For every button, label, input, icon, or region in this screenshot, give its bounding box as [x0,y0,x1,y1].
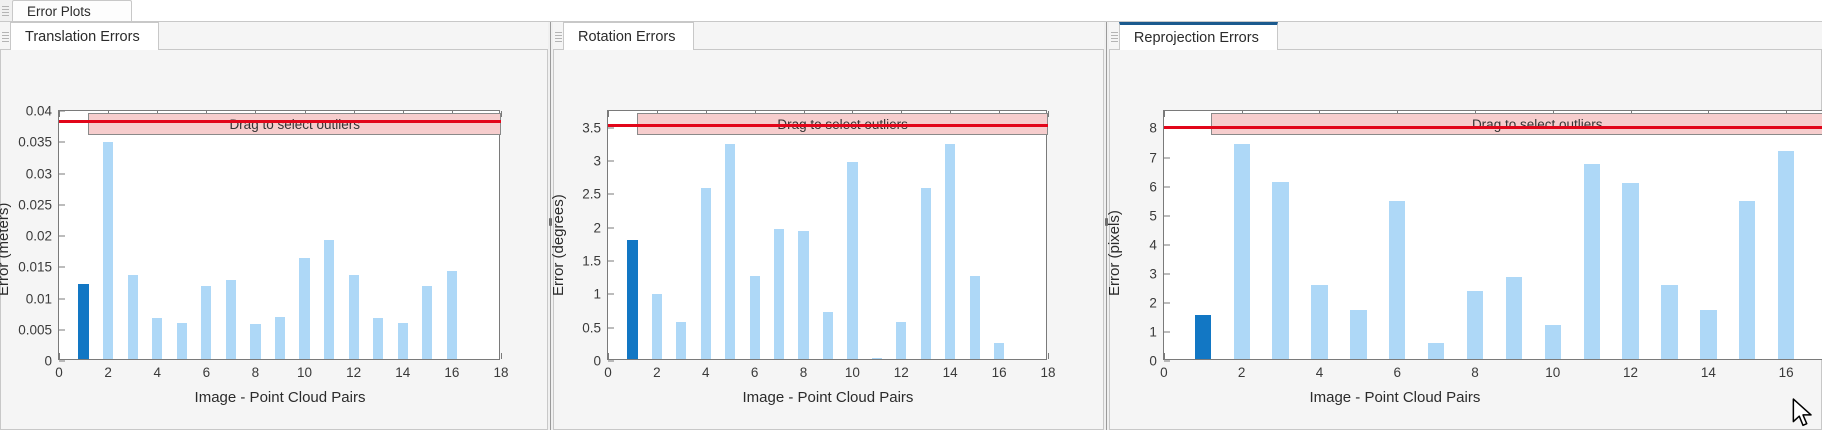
y-tick-mark [608,361,614,362]
bar[interactable] [1739,201,1755,359]
chart-translation-errors[interactable]: 00.0050.010.0150.020.0250.030.0350.04024… [58,110,500,360]
x-axis-label: Image - Point Cloud Pairs [743,389,914,406]
y-tick-mark [1164,215,1170,216]
y-tick-mark [59,361,65,362]
bar[interactable] [1389,201,1405,359]
x-tick-mark [1048,353,1049,359]
y-tick-mark [608,227,614,228]
y-tick-mark [59,298,65,299]
bar[interactable] [725,144,735,359]
x-tick-label: 8 [252,365,260,380]
y-tick-label: 0 [44,354,52,369]
bar[interactable] [324,240,334,359]
y-tick-label: 2 [1149,295,1157,310]
x-tick-label: 10 [845,365,860,380]
plot-columns: Translation Errors 00.0050.010.0150.020.… [0,22,1822,430]
y-tick-mark [1164,244,1170,245]
bar[interactable] [994,343,1004,359]
y-tick-label: 2 [593,220,601,235]
bar[interactable] [774,229,784,359]
outlier-drag-band[interactable]: Drag to select outliers [1211,113,1822,135]
y-tick-label: 3.5 [582,120,601,135]
x-tick-label: 6 [751,365,759,380]
x-tick-label: 6 [203,365,211,380]
outlier-threshold-line[interactable] [1164,126,1822,129]
y-tick-label: 0.035 [18,135,52,150]
x-tick-label: 6 [1393,365,1401,380]
y-tick-label: 0.5 [582,320,601,335]
tab-reprojection-errors[interactable]: Reprojection Errors [1119,22,1278,50]
bar[interactable] [349,275,359,359]
y-axis-label: Error (degrees) [550,194,567,296]
bar[interactable] [103,142,113,360]
x-tick-mark [1164,353,1165,359]
y-tick-mark [608,161,614,162]
y-tick-label: 4 [1149,237,1157,252]
y-tick-mark [1164,186,1170,187]
panel-2-tabrow: Rotation Errors [553,22,1104,50]
panel-1-drag-grip-icon[interactable] [2,30,9,44]
y-tick-label: 3 [593,154,601,169]
y-tick-mark [1164,361,1170,362]
panel-3-tabrow: Reprojection Errors [1109,22,1822,50]
bar[interactable] [1272,182,1288,359]
bar[interactable] [627,240,637,359]
y-tick-mark [608,294,614,295]
y-tick-mark [1164,157,1170,158]
tab-rotation-errors-label: Rotation Errors [578,29,676,45]
y-tick-mark [608,194,614,195]
y-tick-label: 3 [1149,266,1157,281]
panel-reprojection-errors: Reprojection Errors 01234567802468101214… [1109,22,1822,430]
panel-2-plot-body: 00.511.522.533.5024681012141618Error (de… [553,50,1104,430]
y-tick-label: 0.005 [18,322,52,337]
bar[interactable] [896,322,906,359]
y-tick-label: 0 [593,354,601,369]
chart-rotation-errors[interactable]: 00.511.522.533.5024681012141618Error (de… [607,110,1047,360]
x-tick-label: 8 [1471,365,1479,380]
x-tick-label: 8 [800,365,808,380]
x-tick-mark-top [59,111,60,117]
bar[interactable] [447,271,457,359]
bar[interactable] [78,284,88,359]
y-tick-mark [59,267,65,268]
y-tick-label: 2.5 [582,187,601,202]
y-tick-mark [59,142,65,143]
x-tick-label: 4 [153,365,161,380]
x-tick-label: 4 [702,365,710,380]
x-axis-label: Image - Point Cloud Pairs [195,389,366,406]
x-axis-label: Image - Point Cloud Pairs [1309,389,1480,406]
bar[interactable] [872,358,882,359]
y-tick-label: 0.015 [18,260,52,275]
x-tick-label: 16 [1779,365,1794,380]
y-tick-mark [59,204,65,205]
y-tick-label: 8 [1149,121,1157,136]
bar[interactable] [921,188,931,359]
y-tick-label: 0.01 [26,291,52,306]
y-tick-mark [1164,331,1170,332]
bar[interactable] [177,323,187,359]
y-tick-mark [59,173,65,174]
x-tick-mark-top [1164,111,1165,117]
x-tick-mark [608,353,609,359]
bar[interactable] [1545,325,1561,359]
bar[interactable] [701,188,711,359]
bar[interactable] [373,318,383,359]
chart-reprojection-errors[interactable]: 012345678024681012141618Error (pixels)Im… [1163,110,1822,360]
bar[interactable] [1778,151,1794,359]
panel-3-plot-body: 012345678024681012141618Error (pixels)Im… [1109,50,1822,430]
x-tick-label: 14 [1701,365,1716,380]
y-tick-label: 1 [593,287,601,302]
tab-error-plots[interactable]: Error Plots [12,0,132,22]
x-tick-label: 2 [653,365,661,380]
tab-rotation-errors[interactable]: Rotation Errors [563,22,695,50]
y-tick-mark [59,236,65,237]
panel-1-plot-body: 00.0050.010.0150.020.0250.030.0350.04024… [0,50,548,430]
tab-translation-errors-label: Translation Errors [25,29,140,45]
bar[interactable] [201,286,211,359]
y-axis-label: Error (pixels) [1106,210,1123,296]
bar[interactable] [945,144,955,359]
bar[interactable] [750,276,760,359]
x-tick-mark [501,353,502,359]
bar[interactable] [1622,183,1638,359]
y-tick-mark [608,327,614,328]
y-tick-label: 7 [1149,150,1157,165]
y-tick-label: 0.03 [26,166,52,181]
bar[interactable] [1584,164,1600,359]
bar[interactable] [398,323,408,359]
bar[interactable] [422,286,432,359]
panel-3-drag-grip-icon[interactable] [1111,30,1118,44]
x-tick-label: 0 [1160,365,1168,380]
bar[interactable] [970,276,980,359]
y-tick-mark [1164,273,1170,274]
bar[interactable] [798,231,808,359]
x-tick-label: 0 [604,365,612,380]
tab-reprojection-errors-label: Reprojection Errors [1134,30,1259,46]
panel-translation-errors: Translation Errors 00.0050.010.0150.020.… [0,22,548,430]
bar[interactable] [226,280,236,359]
x-tick-label: 16 [444,365,459,380]
y-tick-label: 0.04 [26,104,52,119]
bar[interactable] [1506,277,1522,359]
bar[interactable] [299,258,309,359]
x-tick-label: 16 [992,365,1007,380]
y-tick-label: 0 [1149,354,1157,369]
x-tick-label: 12 [894,365,909,380]
y-tick-mark [59,329,65,330]
tab-translation-errors[interactable]: Translation Errors [10,22,159,50]
x-tick-mark-top [1048,111,1049,117]
bar[interactable] [1700,310,1716,359]
x-tick-label: 4 [1316,365,1324,380]
x-tick-mark [59,353,60,359]
x-tick-label: 14 [395,365,410,380]
x-tick-label: 18 [493,365,508,380]
outer-tabbar-filler [118,0,1822,22]
x-tick-label: 0 [55,365,63,380]
outlier-threshold-line[interactable] [608,124,1048,127]
x-tick-label: 2 [1238,365,1246,380]
y-tick-label: 1.5 [582,254,601,269]
x-tick-label: 18 [1040,365,1055,380]
panel-1-tabrow: Translation Errors [0,22,548,50]
x-tick-label: 2 [104,365,112,380]
y-tick-mark [608,261,614,262]
tab-error-plots-label: Error Plots [27,4,91,19]
x-tick-label: 14 [943,365,958,380]
y-tick-mark [1164,302,1170,303]
bar[interactable] [823,312,833,359]
panel-2-drag-grip-icon[interactable] [555,30,562,44]
y-tick-label: 0.02 [26,229,52,244]
bar[interactable] [676,322,686,359]
y-axis-label: Error (meters) [0,203,12,296]
bar[interactable] [275,317,285,360]
x-tick-label: 12 [1623,365,1638,380]
panel-rotation-errors: Rotation Errors 00.511.522.533.502468101… [553,22,1104,430]
bar[interactable] [1195,315,1211,359]
bar[interactable] [128,275,138,359]
y-tick-label: 0.025 [18,197,52,212]
bar[interactable] [1234,144,1250,359]
bar[interactable] [1661,285,1677,359]
x-tick-mark-top [608,111,609,117]
y-tick-label: 5 [1149,208,1157,223]
y-tick-label: 6 [1149,179,1157,194]
error-plots-window: Error Plots Translation Errors 00.0050.0… [0,0,1822,430]
bar[interactable] [652,294,662,359]
bar[interactable] [1428,343,1444,359]
outlier-threshold-line[interactable] [59,120,501,123]
y-tick-label: 1 [1149,324,1157,339]
bar[interactable] [1467,291,1483,359]
drag-grip-icon[interactable] [2,4,9,18]
outer-tabbar: Error Plots [0,0,1822,22]
x-tick-label: 10 [297,365,312,380]
x-tick-label: 10 [1545,365,1560,380]
bar[interactable] [1311,285,1327,359]
x-tick-label: 12 [346,365,361,380]
bar[interactable] [152,318,162,359]
bar[interactable] [1350,310,1366,359]
outlier-drag-band[interactable]: Drag to select outliers [88,113,501,135]
bar[interactable] [250,324,260,359]
x-tick-mark-top [501,111,502,117]
bar[interactable] [847,162,857,359]
